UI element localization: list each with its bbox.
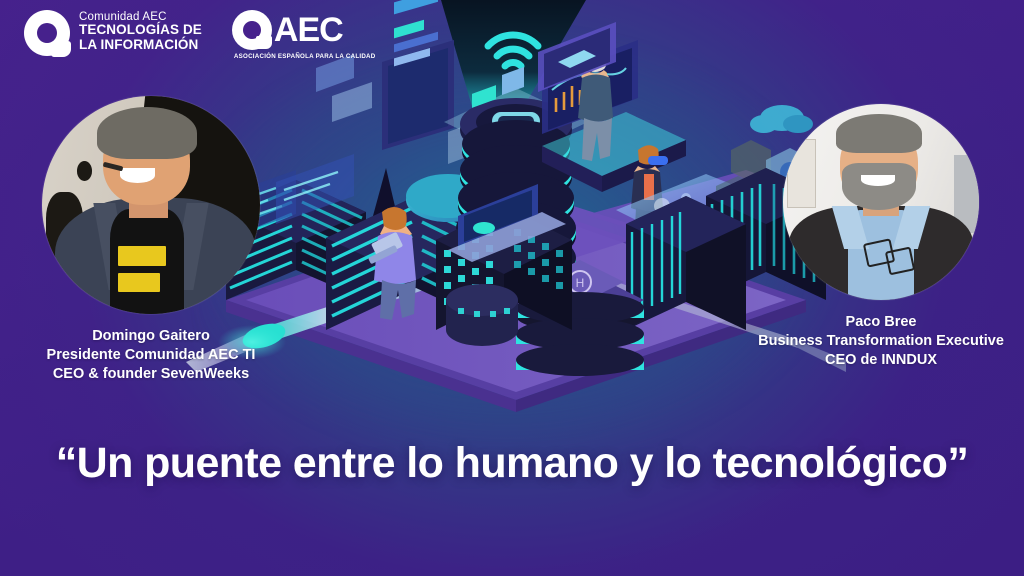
speaker-caption-left: Domingo Gaitero Presidente Comunidad AEC… [26, 327, 276, 384]
floating-chip-2 [332, 82, 372, 122]
q-mark-icon [24, 10, 70, 56]
speaker-name: Domingo Gaitero [26, 327, 276, 346]
speaker-role-line2: CEO de INNDUX [756, 351, 1006, 370]
svg-text:H: H [576, 276, 585, 290]
comunidad-aec-logo[interactable]: Comunidad AEC TECNOLOGÍAS DE LA INFORMAC… [24, 10, 202, 56]
aec-wordmark: AEC [274, 13, 343, 47]
round-tower-lower [446, 284, 518, 346]
speaker-caption-right: Paco Bree Business Transformation Execut… [756, 313, 1006, 370]
vr-headset-icon [648, 156, 668, 165]
speaker-card-right: Paco Bree Business Transformation Execut… [756, 104, 1006, 370]
speaker-role-line2: CEO & founder SevenWeeks [26, 365, 276, 384]
avatar [42, 96, 260, 314]
floating-tablet-screen [382, 0, 454, 150]
slide-canvas: H [0, 0, 1024, 576]
q-mark-icon [232, 10, 272, 50]
comunidad-logo-line2: TECNOLOGÍAS DE [79, 23, 202, 38]
isometric-city-illustration: H [186, 0, 846, 460]
comunidad-logo-line3: LA INFORMACIÓN [79, 38, 202, 53]
speaker-role-line1: Presidente Comunidad AEC TI [26, 346, 276, 365]
headline-quote: “Un puente entre lo humano y lo tecnológ… [0, 442, 1024, 485]
logo-bar: Comunidad AEC TECNOLOGÍAS DE LA INFORMAC… [24, 10, 375, 60]
aec-tagline: ASOCIACIÓN ESPAÑOLA PARA LA CALIDAD [234, 53, 376, 60]
avatar [783, 104, 979, 300]
speaker-name: Paco Bree [756, 313, 1006, 332]
speaker-role-line1: Business Transformation Executive [756, 332, 1006, 351]
aec-logo[interactable]: AEC ASOCIACIÓN ESPAÑOLA PARA LA CALIDAD [232, 10, 376, 60]
speaker-card-left: Domingo Gaitero Presidente Comunidad AEC… [26, 96, 276, 384]
